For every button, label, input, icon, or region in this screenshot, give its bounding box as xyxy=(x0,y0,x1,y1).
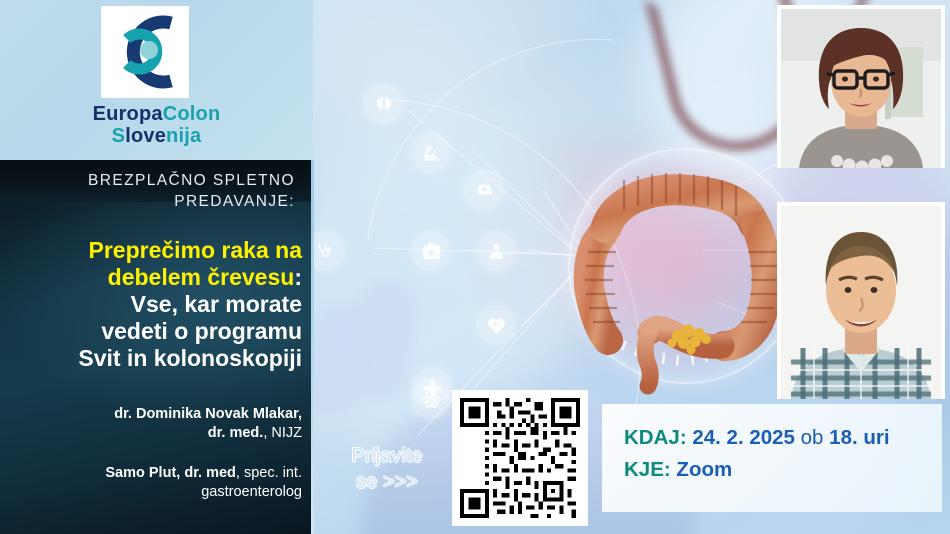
logo-word-europa: Europa xyxy=(93,103,163,125)
logo-word-colon: Colon xyxy=(163,103,221,125)
brain-icon xyxy=(363,84,403,124)
logo-word-nija: nija xyxy=(166,125,201,147)
list-item: Samo Plut, dr. med, spec. int. gastroent… xyxy=(16,464,302,503)
speaker-1-name: dr. Dominika Novak Mlakar, xyxy=(114,406,302,422)
when-time: 18. uri xyxy=(829,426,889,449)
event-kicker: BREZPLAČNO SPLETNO PREDAVANJE: xyxy=(20,170,295,213)
where-value: Zoom xyxy=(676,458,732,481)
when-connector: ob xyxy=(801,426,824,449)
register-cta[interactable]: Prijavite se >>> xyxy=(328,444,446,495)
heart-pulse-icon xyxy=(476,305,516,345)
europacolon-c-logo-icon xyxy=(101,6,189,98)
logo-word-s: S xyxy=(112,125,126,147)
speaker-list: dr. Dominika Novak Mlakar, dr. med., NIJ… xyxy=(16,405,302,523)
nurse-cap-icon xyxy=(464,170,504,210)
speaker-2-name: Samo Plut, dr. med xyxy=(105,465,236,481)
speaker-photo-dominika-novak-mlakar xyxy=(781,9,941,168)
logo-wordmark: EuropaColon Slovenija xyxy=(0,103,313,148)
headline-line-4: vedeti o programu xyxy=(16,318,302,345)
logo-word-love: love xyxy=(125,125,166,147)
headline-line-2: debelem črevesu xyxy=(108,264,295,290)
headline-line-3: Vse, kar morate xyxy=(16,291,302,318)
event-when-line: KDAJ: 24. 2. 2025 ob 18. uri xyxy=(624,426,890,450)
event-details-box: KDAJ: 24. 2. 2025 ob 18. uri KJE: Zoom xyxy=(602,404,942,512)
avatar xyxy=(777,202,945,399)
webinar-poster: EuropaColon Slovenija BREZPLAČNO SPLETNO… xyxy=(0,0,950,534)
medical-bag-icon xyxy=(411,231,451,271)
patient-icon xyxy=(476,231,516,271)
microscope-icon xyxy=(411,133,451,173)
kicker-line-1: BREZPLAČNO SPLETNO xyxy=(20,170,295,191)
headline-line-5: Svit in kolonoskopiji xyxy=(16,345,302,372)
headline-colon: : xyxy=(294,264,302,290)
speaker-1-affiliation: , NIJZ xyxy=(263,425,302,441)
when-date: 24. 2. 2025 xyxy=(692,426,795,449)
list-item: dr. Dominika Novak Mlakar, dr. med., NIJ… xyxy=(16,405,302,444)
speaker-1-title: dr. med. xyxy=(208,425,264,441)
page-title: Preprečimo raka na debelem črevesu: Vse,… xyxy=(16,237,302,372)
event-where-line: KJE: Zoom xyxy=(624,458,732,482)
panel-edge-accent xyxy=(311,160,314,534)
kicker-line-2: PREDAVANJE: xyxy=(20,191,295,212)
medical-cross-icon xyxy=(412,368,452,408)
where-label: KJE: xyxy=(624,458,671,481)
colon-shape xyxy=(558,140,808,400)
register-cta-line-1: Prijavite xyxy=(328,444,446,470)
logo-header: EuropaColon Slovenija xyxy=(0,0,313,160)
headline-line-1: Preprečimo raka na xyxy=(16,237,302,264)
colon-anatomy-illustration xyxy=(558,140,808,400)
avatar xyxy=(777,5,945,168)
when-label: KDAJ: xyxy=(624,426,687,449)
register-cta-line-2: se >>> xyxy=(328,470,446,496)
speaker-photo-samo-plut xyxy=(781,206,941,399)
qr-code-icon[interactable] xyxy=(460,398,580,518)
